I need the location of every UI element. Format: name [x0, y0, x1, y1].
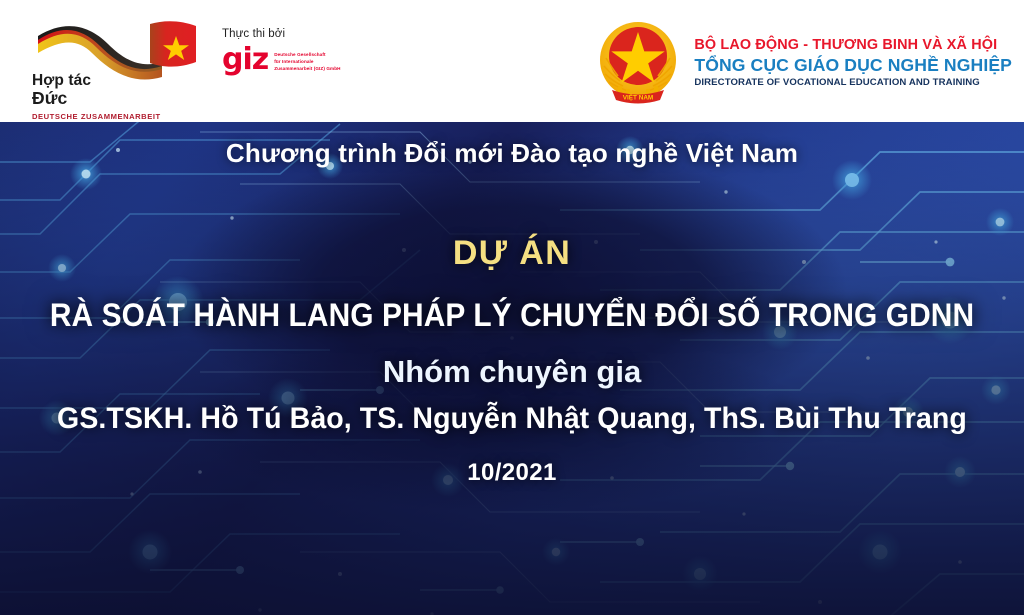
title-banner: Chương trình Đổi mới Đào tạo nghề Việt N… [0, 122, 1024, 615]
ministry-logo-block: VIỆT NAM BỘ LAO ĐỘNG - THƯƠNG BINH VÀ XÃ… [592, 14, 1012, 110]
german-logo-line1: Hợp tác [32, 72, 212, 89]
ministry-line3: DIRECTORATE OF VOCATIONAL EDUCATION AND … [694, 77, 1012, 89]
giz-caption: Thực thi bởi [222, 28, 357, 40]
giz-subtext-line3: Zusammenarbeit (GIZ) GmbH [274, 66, 340, 73]
project-label: DỰ ÁN [0, 234, 1024, 273]
header-bar: Hợp tác Đức DEUTSCHE ZUSAMMENARBEIT Thực… [0, 0, 1024, 122]
giz-subtext-line2: für Internationale [274, 59, 340, 66]
german-logo-line2: Đức [32, 89, 212, 109]
giz-logo-block: Thực thi bởi giz Deutsche Gesellschaft f… [222, 28, 357, 98]
german-vietnam-ribbon-icon [30, 18, 208, 80]
giz-subtext-line1: Deutsche Gesellschaft [274, 52, 340, 59]
expert-names: GS.TSKH. Hồ Tú Bảo, TS. Nguyễn Nhật Quan… [26, 402, 999, 436]
german-logo-text: Hợp tác Đức DEUTSCHE ZUSAMMENARBEIT [32, 72, 212, 121]
german-cooperation-logo: Hợp tác Đức DEUTSCHE ZUSAMMENARBEIT [22, 16, 212, 114]
expert-group-label: Nhóm chuyên gia [0, 354, 1024, 390]
giz-logo-row: giz Deutsche Gesellschaft für Internatio… [222, 47, 357, 73]
slide-root: Hợp tác Đức DEUTSCHE ZUSAMMENARBEIT Thực… [0, 0, 1024, 615]
project-title: RÀ SOÁT HÀNH LANG PHÁP LÝ CHUYỂN ĐỔI SỐ … [41, 297, 983, 334]
giz-subtext: Deutsche Gesellschaft für Internationale… [274, 52, 340, 73]
ministry-text: BỘ LAO ĐỘNG - THƯƠNG BINH VÀ XÃ HỘI TỔNG… [694, 34, 1012, 89]
ministry-line1: BỘ LAO ĐỘNG - THƯƠNG BINH VÀ XÃ HỘI [694, 36, 1012, 54]
vietnam-national-emblem-icon: VIỆT NAM [592, 16, 684, 108]
emblem-banner-text: VIỆT NAM [623, 93, 654, 102]
program-title: Chương trình Đổi mới Đào tạo nghề Việt N… [0, 138, 1024, 169]
publication-date: 10/2021 [0, 459, 1024, 487]
giz-wordmark: giz [222, 47, 268, 72]
ministry-line2: TỔNG CỤC GIÁO DỤC NGHỀ NGHIỆP [694, 55, 1012, 76]
german-logo-line3: DEUTSCHE ZUSAMMENARBEIT [32, 112, 212, 121]
